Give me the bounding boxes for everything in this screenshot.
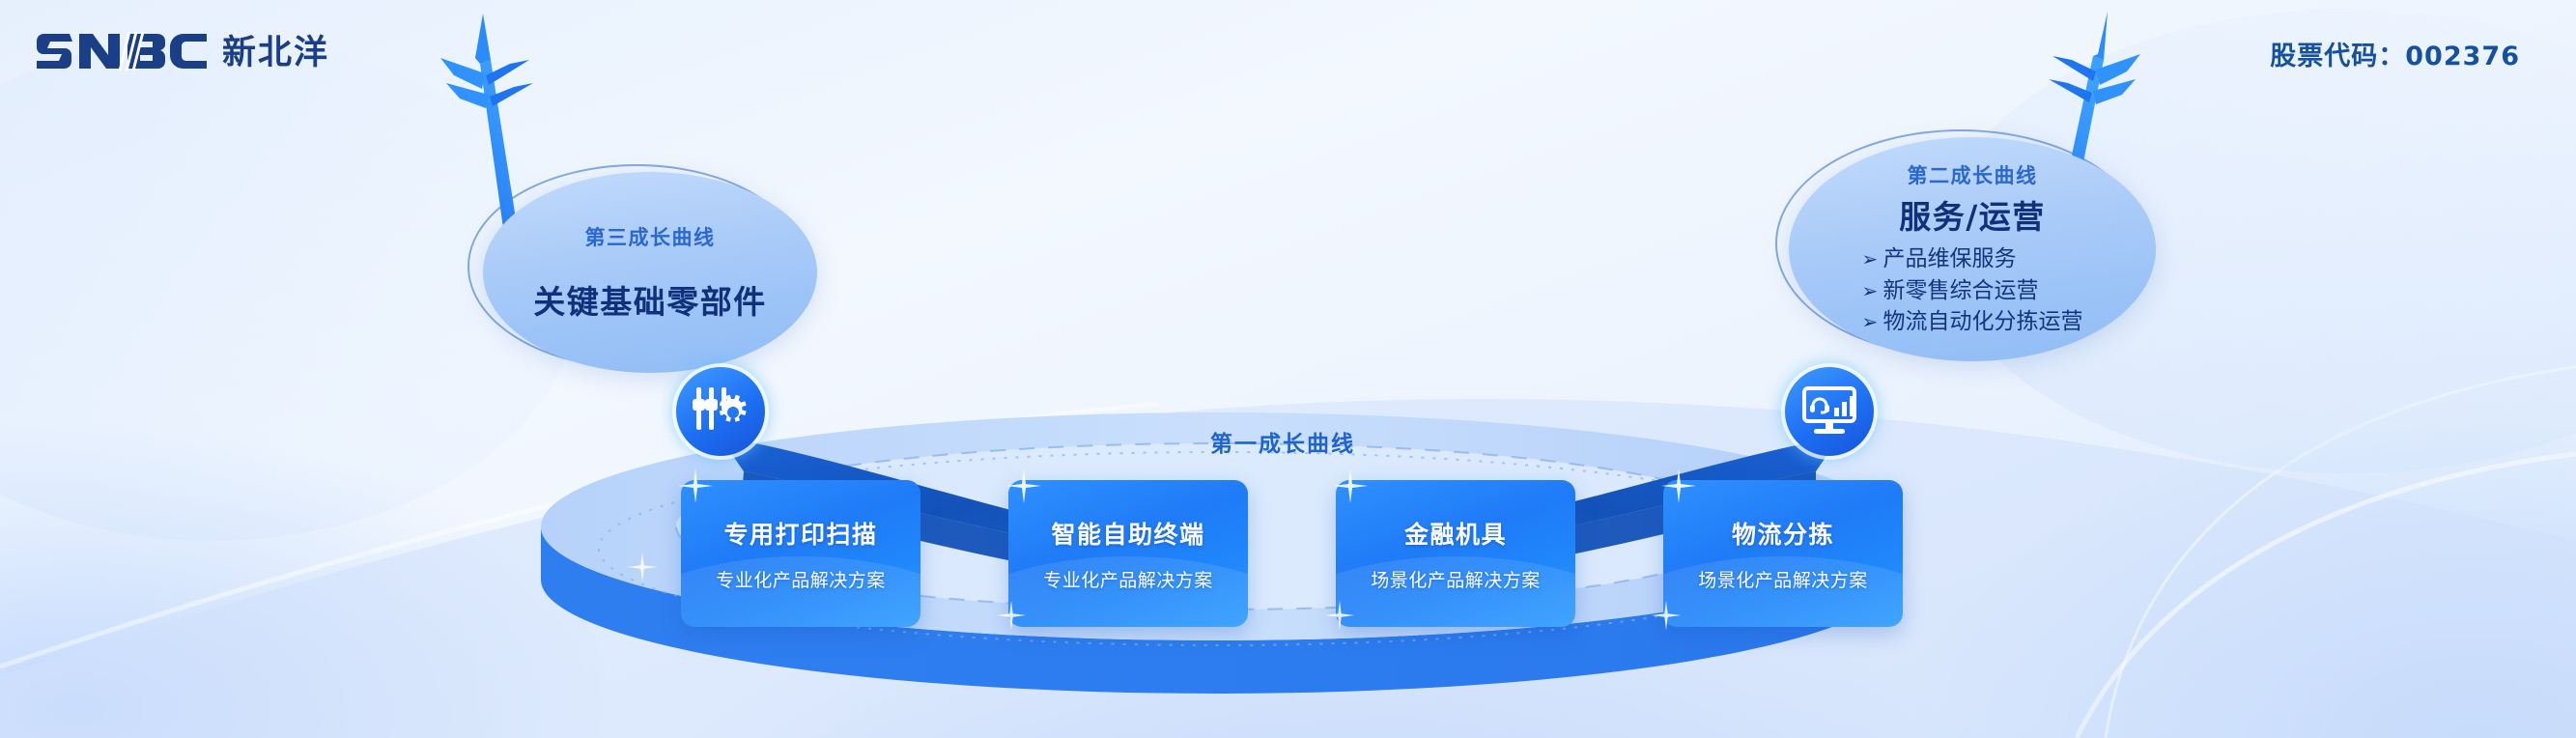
bubble-second-growth-curve[interactable]: 第二成长曲线 服务/运营 ➢产品维保服务 ➢新零售综合运营 ➢物流自动化分拣运营 [1789,137,2156,361]
bullet-text: 物流自动化分拣运营 [1883,309,2083,334]
product-card[interactable]: 物流分拣 场景化产品解决方案 [1663,480,1903,627]
bubble-right-bullets: ➢产品维保服务 ➢新零售综合运营 ➢物流自动化分拣运营 [1862,243,2083,338]
product-card[interactable]: 金融机具 场景化产品解决方案 [1336,480,1575,627]
brand-name-cn: 新北洋 [222,25,329,74]
bubble-right-title: 服务/运营 [1899,191,2046,238]
bullet-arrow-icon: ➢ [1862,245,1883,272]
bubble-third-growth-curve[interactable]: 第三成长曲线 关键基础零部件 [483,172,817,373]
background-decor [0,0,2576,738]
bubble-right-kicker: 第二成长曲线 [1908,160,2038,189]
bubble-left-title: 关键基础零部件 [533,276,767,323]
first-growth-curve-label: 第一成长曲线 [1210,425,1355,458]
bullet-arrow-icon: ➢ [1862,277,1883,304]
sparkle-icon [626,551,659,583]
card-subtitle: 场景化产品解决方案 [1698,566,1868,592]
brand-logo: 新北洋 [37,25,329,74]
card-title: 金融机具 [1404,516,1507,551]
card-title: 专用打印扫描 [723,516,877,551]
card-title: 智能自助终端 [1051,516,1204,551]
infographic-canvas: 新北洋 股票代码：002376 [0,0,2576,738]
list-item: ➢物流自动化分拣运营 [1862,306,2083,338]
list-item: ➢产品维保服务 [1862,243,2083,275]
card-title: 物流分拣 [1732,516,1834,551]
monitor-headset-chart-icon [1802,386,1856,437]
stock-code: 股票代码：002376 [2270,35,2520,72]
card-subtitle: 专业化产品解决方案 [716,566,886,592]
product-card[interactable]: 智能自助终端 专业化产品解决方案 [1008,480,1248,627]
monitor-headset-chart-icon-badge[interactable] [1785,367,1874,456]
bullet-text: 新零售综合运营 [1883,278,2039,303]
snbc-logo-icon [37,26,207,74]
sliders-gear-icon-badge[interactable] [676,367,765,456]
list-item: ➢新零售综合运营 [1862,275,2083,307]
bullet-text: 产品维保服务 [1883,246,2017,271]
bullet-arrow-icon: ➢ [1862,308,1883,335]
bubble-left-kicker: 第三成长曲线 [585,222,716,251]
product-card[interactable]: 专用打印扫描 专业化产品解决方案 [681,480,920,627]
sliders-gear-icon [693,385,749,438]
card-subtitle: 专业化产品解决方案 [1043,566,1213,592]
card-subtitle: 场景化产品解决方案 [1371,566,1541,592]
growth-curve-graphic [0,0,2576,738]
